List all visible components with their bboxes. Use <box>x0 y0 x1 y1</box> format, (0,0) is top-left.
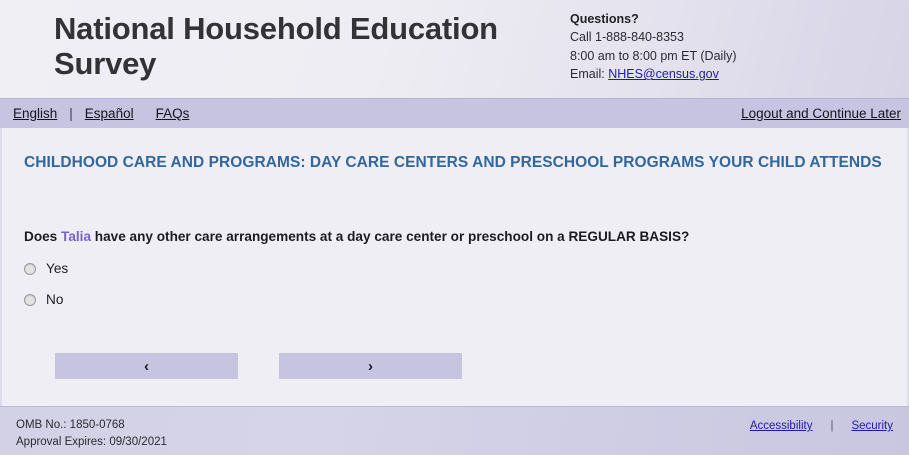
option-row-no[interactable]: No <box>24 284 68 315</box>
site-title: National Household Education Survey <box>54 12 554 81</box>
next-button[interactable]: › <box>279 353 462 379</box>
contact-hours: 8:00 am to 8:00 pm ET (Daily) <box>570 47 737 65</box>
main-content: CHILDHOOD CARE AND PROGRAMS: DAY CARE CE… <box>0 128 909 406</box>
omb-number: OMB No.: 1850-0768 <box>16 417 167 434</box>
option-row-yes[interactable]: Yes <box>24 253 68 284</box>
nav-link-faqs[interactable]: FAQs <box>156 106 190 121</box>
nav-separator: | <box>57 106 85 121</box>
nav-links-left: English | Español FAQs <box>13 106 189 121</box>
contact-email-prefix: Email: <box>570 67 608 81</box>
back-button[interactable]: ‹ <box>55 353 238 379</box>
security-link[interactable]: Security <box>851 420 893 432</box>
radio-button-no[interactable] <box>24 294 36 306</box>
contact-phone: Call 1-888-840-8353 <box>570 28 737 46</box>
navigation-buttons: ‹ › <box>55 353 462 379</box>
accessibility-link[interactable]: Accessibility <box>750 420 813 432</box>
child-name: Talia <box>61 229 91 244</box>
option-label-yes: Yes <box>46 261 68 276</box>
contact-info-block: Questions? Call 1-888-840-8353 8:00 am t… <box>570 10 737 84</box>
nav-link-espanol[interactable]: Español <box>85 106 134 121</box>
nav-links-right: Logout and Continue Later <box>741 105 901 123</box>
footer-omb-block: OMB No.: 1850-0768 Approval Expires: 09/… <box>16 417 167 452</box>
navigation-bar: English | Español FAQs Logout and Contin… <box>0 98 909 128</box>
page-header: National Household Education Survey Ques… <box>0 0 909 98</box>
questions-label: Questions? <box>570 10 737 28</box>
chevron-left-icon: ‹ <box>144 358 149 375</box>
contact-email-line: Email: NHES@census.gov <box>570 65 737 83</box>
answer-options-group: Yes No <box>24 253 68 315</box>
page-footer: OMB No.: 1850-0768 Approval Expires: 09/… <box>0 406 909 455</box>
question-text-part2: have any other care arrangements at a da… <box>91 229 689 244</box>
nav-link-english[interactable]: English <box>13 106 57 121</box>
footer-separator: | <box>812 420 851 432</box>
section-heading: CHILDHOOD CARE AND PROGRAMS: DAY CARE CE… <box>24 152 884 174</box>
contact-email-link[interactable]: NHES@census.gov <box>608 67 719 81</box>
radio-button-yes[interactable] <box>24 263 36 275</box>
question-text: Does Talia have any other care arrangeme… <box>24 229 689 244</box>
chevron-right-icon: › <box>368 358 373 375</box>
logout-and-continue-later-link[interactable]: Logout and Continue Later <box>741 106 901 121</box>
approval-expires: Approval Expires: 09/30/2021 <box>16 434 167 451</box>
question-text-part1: Does <box>24 229 61 244</box>
footer-links: Accessibility | Security <box>750 420 893 432</box>
option-label-no: No <box>46 292 63 307</box>
